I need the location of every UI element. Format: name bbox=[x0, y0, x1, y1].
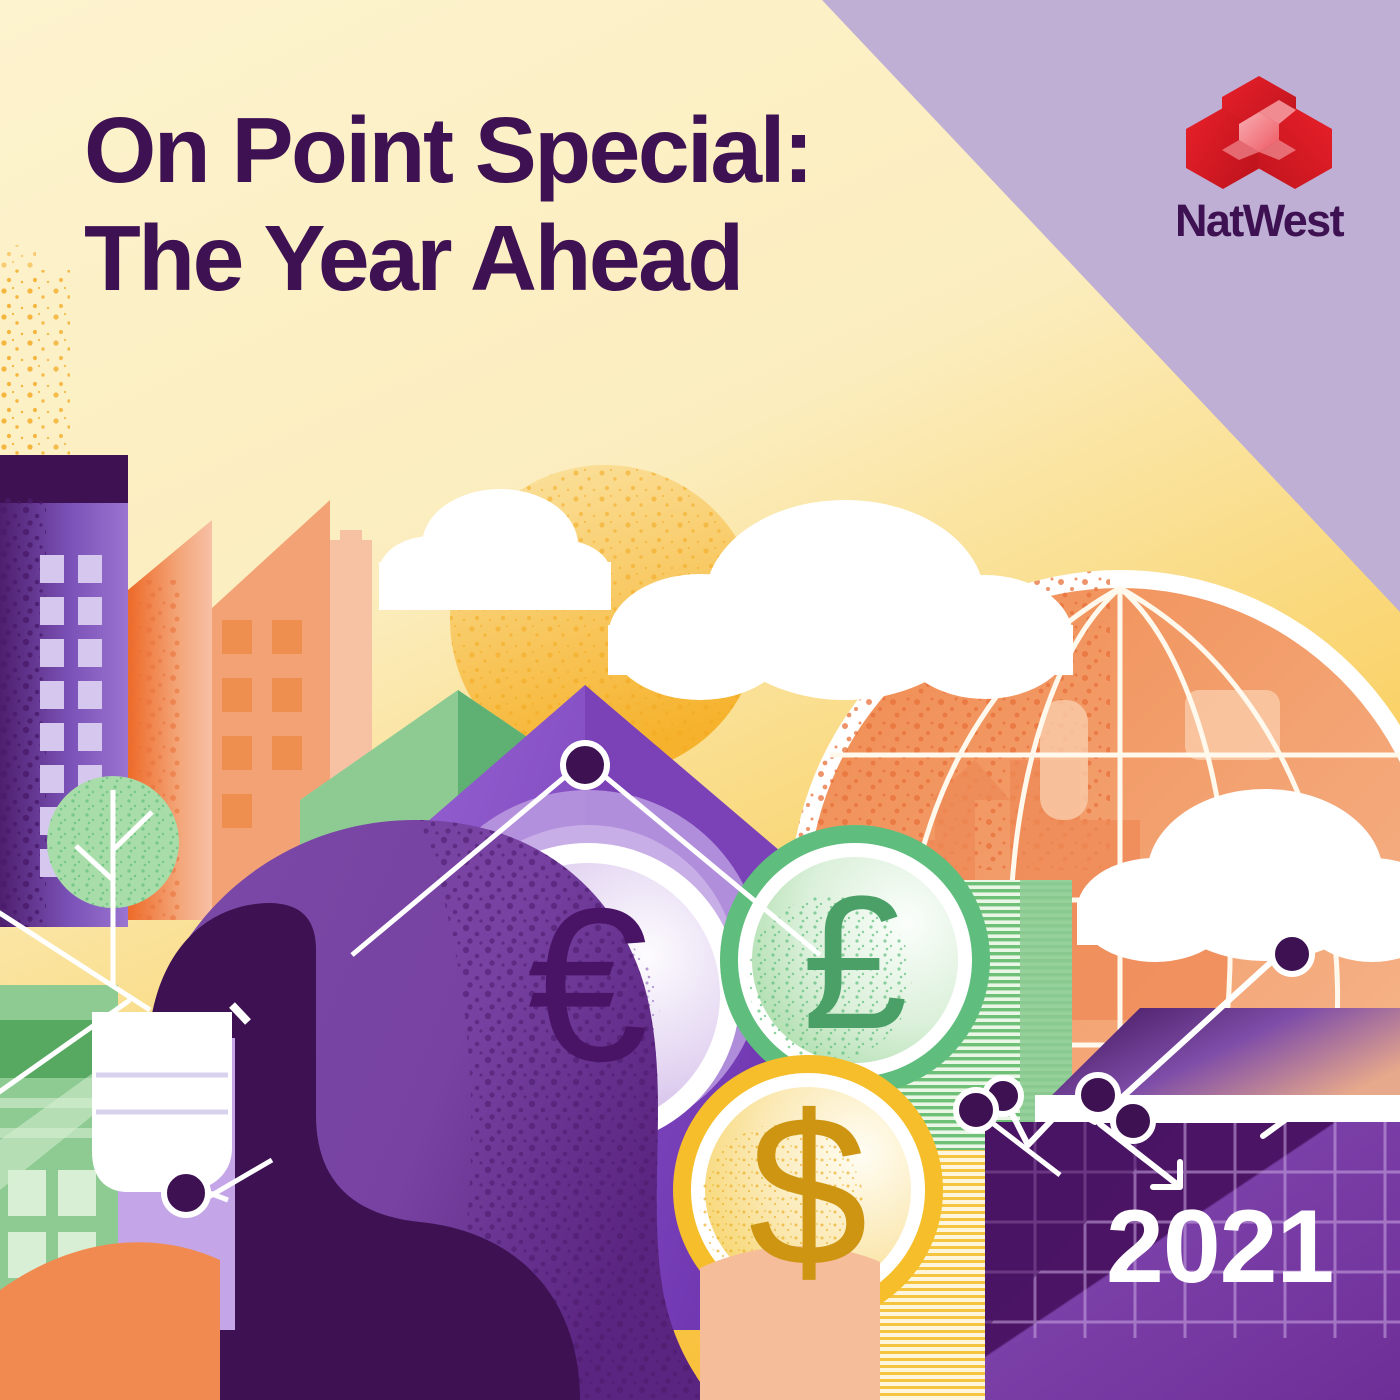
natwest-wordmark: NatWest bbox=[1164, 198, 1354, 243]
house-node bbox=[563, 743, 607, 787]
natwest-cube-icon bbox=[1184, 74, 1334, 192]
dollar-symbol: $ bbox=[748, 1070, 868, 1311]
face-mask bbox=[92, 1005, 248, 1192]
banknote-node bbox=[956, 1090, 996, 1130]
natwest-logo: NatWest bbox=[1164, 74, 1354, 274]
person-node bbox=[164, 1171, 208, 1215]
title-line-2: The Year Ahead bbox=[84, 204, 964, 312]
title-line-1: On Point Special: bbox=[84, 96, 964, 204]
euro-symbol: € bbox=[527, 864, 648, 1107]
poster-canvas: € £ $ On Point Special: The Year Ahead bbox=[0, 0, 1400, 1400]
year-badge: 2021 bbox=[1106, 1195, 1333, 1299]
page-title: On Point Special: The Year Ahead bbox=[84, 96, 964, 312]
pound-symbol: £ bbox=[802, 857, 908, 1069]
